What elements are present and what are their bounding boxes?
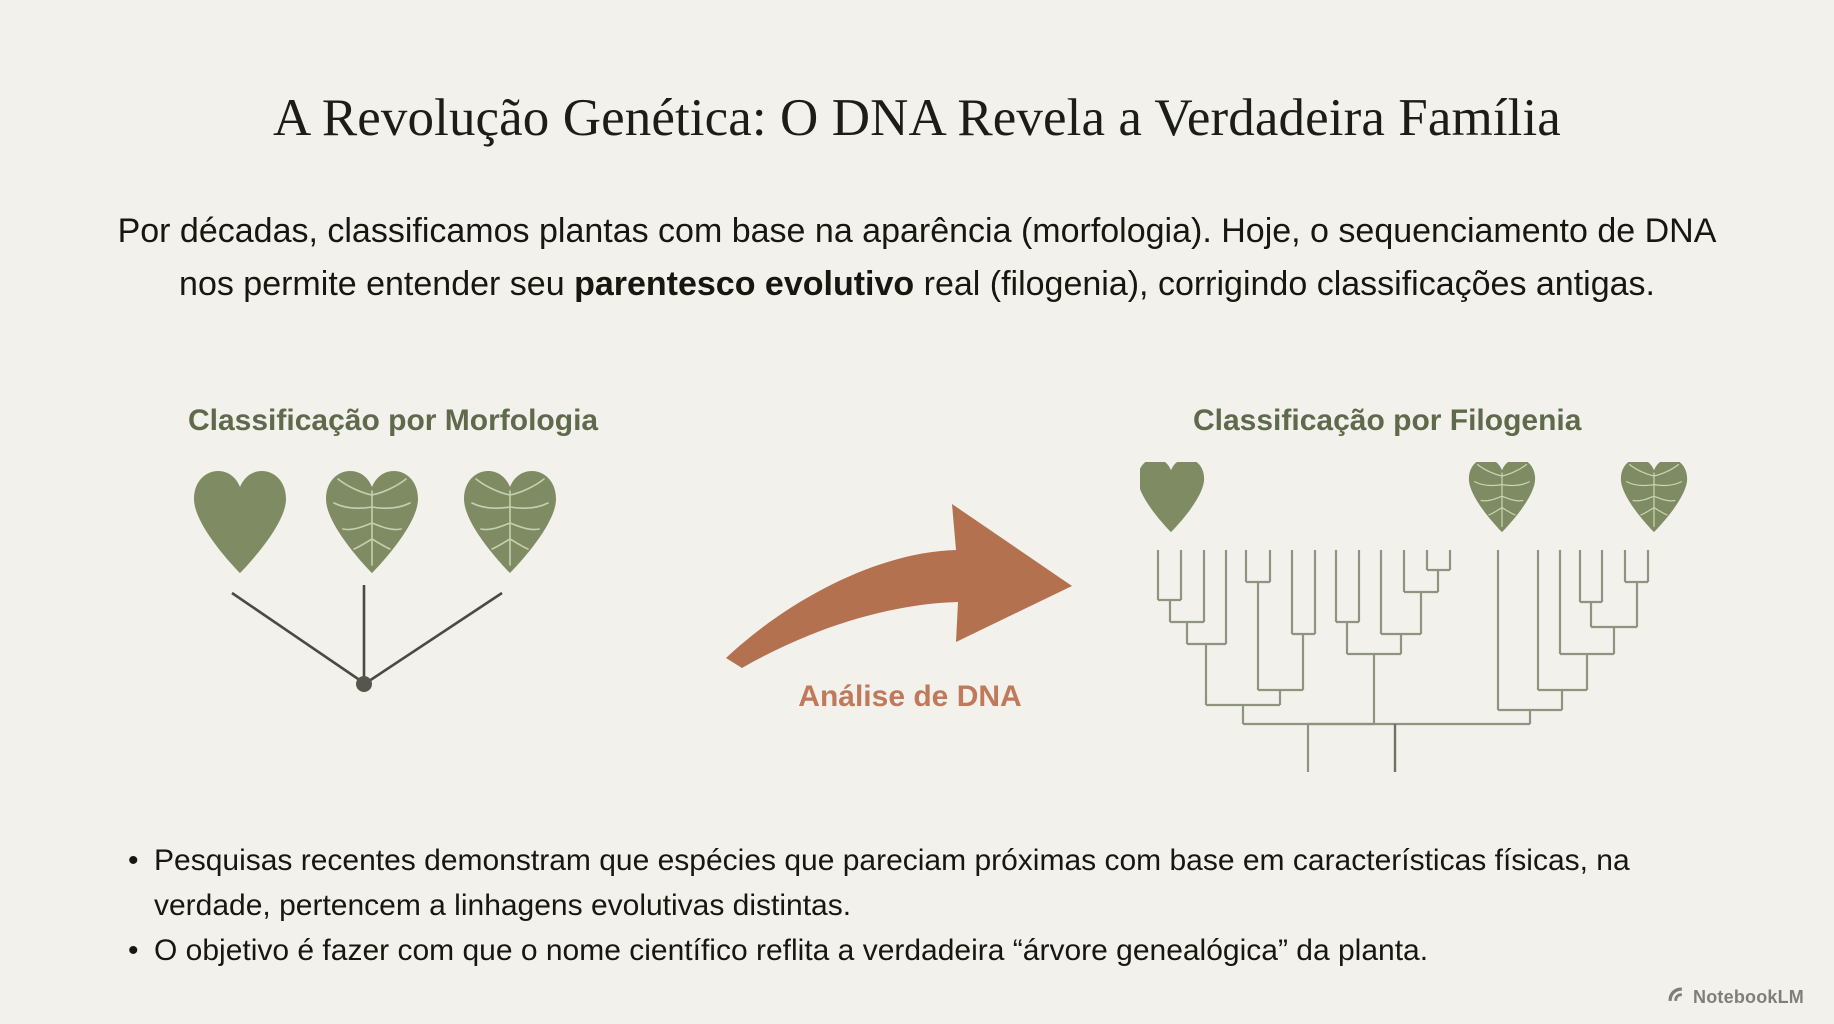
bullet-list: • Pesquisas recentes demonstram que espé… [128, 838, 1744, 973]
phylogeny-diagram [1140, 462, 1720, 792]
morphology-leaf-3 [464, 471, 556, 573]
notebooklm-label: NotebookLM [1693, 987, 1804, 1008]
morphology-heading: Classificação por Morfologia [188, 404, 598, 438]
morphology-leaf-2 [326, 471, 418, 573]
arrow-label: Análise de DNA [720, 680, 1100, 714]
notebooklm-arc-icon [1666, 985, 1686, 1010]
morphology-branch-lines [232, 585, 502, 683]
subtitle-part-2: real (filogenia), corrigindo classificaç… [914, 265, 1655, 303]
list-item: • Pesquisas recentes demonstram que espé… [128, 838, 1744, 928]
phylogeny-leaf-3 [1621, 462, 1687, 532]
notebooklm-watermark: NotebookLM [1666, 985, 1804, 1010]
bullet-text-2: O objetivo é fazer com que o nome cientí… [154, 928, 1744, 973]
list-item: • O objetivo é fazer com que o nome cien… [128, 928, 1744, 973]
phylogeny-leaf-2 [1469, 462, 1535, 532]
page-title: A Revolução Genética: O DNA Revela a Ver… [0, 88, 1834, 148]
arrow-shape [726, 504, 1072, 668]
bullet-text-1: Pesquisas recentes demonstram que espéci… [154, 838, 1744, 928]
morphology-leaf-1 [194, 471, 286, 573]
phylogeny-leaf-1 [1140, 462, 1204, 532]
morphology-diagram [190, 465, 670, 715]
phylogeny-heading: Classificação por Filogenia [1193, 404, 1581, 438]
bullet-marker-icon: • [128, 838, 154, 883]
subtitle-emphasis: parentesco evolutivo [574, 265, 914, 303]
slide-canvas: A Revolução Genética: O DNA Revela a Ver… [0, 0, 1834, 1024]
morphology-root-node [356, 676, 372, 692]
bullet-marker-icon: • [128, 928, 154, 973]
phylogeny-right-clade [1498, 550, 1648, 724]
subtitle: Por décadas, classificamos plantas com b… [95, 205, 1739, 311]
phylogeny-left-clade [1158, 550, 1450, 772]
